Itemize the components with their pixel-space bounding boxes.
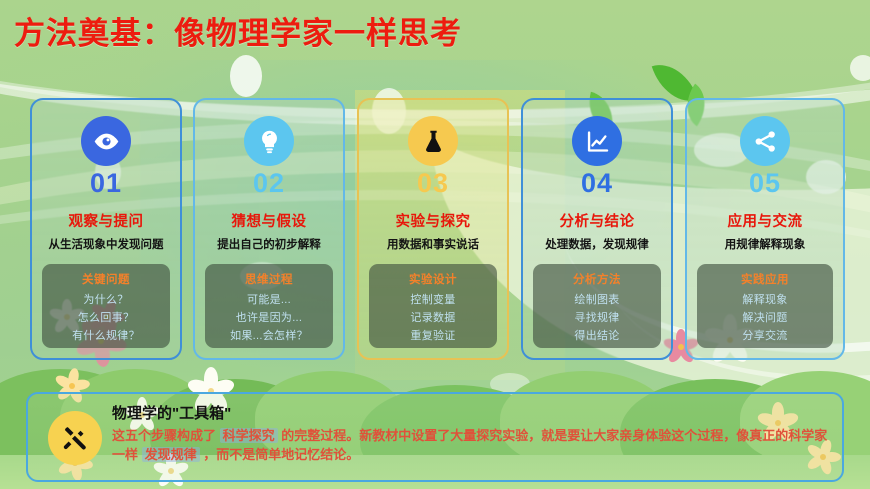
step-detail-item: 分享交流 <box>701 328 829 346</box>
step-detail-heading: 思维过程 <box>209 271 329 287</box>
step-detail-box: 思维过程 可能是... 也许是因为... 如果...会怎样？ <box>205 264 333 348</box>
step-detail-item: 解决问题 <box>701 310 829 328</box>
step-detail-heading: 分析方法 <box>537 271 657 287</box>
step-detail-heading: 实验设计 <box>373 271 493 287</box>
step-detail-item: 寻找规律 <box>537 310 657 328</box>
step-title: 观察与提问 <box>32 210 180 231</box>
lightbulb-icon <box>244 116 294 166</box>
toolbox-panel: 物理学的"工具箱" 这五个步骤构成了 科学探究 的完整过程。新教材中设置了大量探… <box>26 392 844 482</box>
step-card-04[interactable]: 04 分析与结论 处理数据，发现规律 分析方法 绘制图表 寻找规律 得出结论 <box>521 98 673 360</box>
page-title: 方法奠基：像物理学家一样思考 <box>14 8 462 53</box>
toolbox-highlight-2: 发现规律 <box>142 447 200 462</box>
step-detail-item: 也许是因为... <box>209 310 329 328</box>
step-number: 03 <box>359 168 507 199</box>
step-detail-item: 如果...会怎样？ <box>209 328 329 346</box>
step-subtitle: 从生活现象中发现问题 <box>32 236 180 252</box>
step-detail-heading: 实践应用 <box>701 271 829 287</box>
toolbox-body-part-1: 这五个步骤构成了 <box>112 428 216 443</box>
step-card-05[interactable]: 05 应用与交流 用规律解释现象 实践应用 解释现象 解决问题 分享交流 <box>685 98 845 360</box>
step-detail-item: 重复验证 <box>373 328 493 346</box>
step-number: 01 <box>32 168 180 199</box>
step-detail-item: 绘制图表 <box>537 292 657 310</box>
toolbox-body: 这五个步骤构成了 科学探究 的完整过程。新教材中设置了大量探究实验，就是要让大家… <box>112 427 830 465</box>
step-detail-box: 关键问题 为什么？ 怎么回事？ 有什么规律？ <box>42 264 170 348</box>
steps-card-row: 01 观察与提问 从生活现象中发现问题 关键问题 为什么？ 怎么回事？ 有什么规… <box>0 98 870 360</box>
step-detail-box: 实践应用 解释现象 解决问题 分享交流 <box>697 264 833 348</box>
step-detail-item: 记录数据 <box>373 310 493 328</box>
step-title: 分析与结论 <box>523 210 671 231</box>
share-icon <box>740 116 790 166</box>
step-subtitle: 用规律解释现象 <box>687 236 843 252</box>
step-card-02[interactable]: 02 猜想与假设 提出自己的初步解释 思维过程 可能是... 也许是因为... … <box>193 98 345 360</box>
step-detail-item: 怎么回事？ <box>46 310 166 328</box>
decorative-blob <box>230 55 262 97</box>
toolbox-title: 物理学的"工具箱" <box>112 402 231 423</box>
step-detail-box: 实验设计 控制变量 记录数据 重复验证 <box>369 264 497 348</box>
step-detail-heading: 关键问题 <box>46 271 166 287</box>
eye-icon <box>81 116 131 166</box>
step-detail-item: 控制变量 <box>373 292 493 310</box>
chart-line-icon <box>572 116 622 166</box>
step-number: 02 <box>195 168 343 199</box>
step-subtitle: 处理数据，发现规律 <box>523 236 671 252</box>
step-detail-item: 解释现象 <box>701 292 829 310</box>
step-detail-item: 得出结论 <box>537 328 657 346</box>
step-detail-item: 有什么规律？ <box>46 328 166 346</box>
step-card-03[interactable]: 03 实验与探究 用数据和事实说话 实验设计 控制变量 记录数据 重复验证 <box>357 98 509 360</box>
decorative-blob <box>850 55 870 81</box>
step-detail-item: 为什么？ <box>46 292 166 310</box>
flask-icon <box>408 116 458 166</box>
step-subtitle: 提出自己的初步解释 <box>195 236 343 252</box>
step-card-01[interactable]: 01 观察与提问 从生活现象中发现问题 关键问题 为什么？ 怎么回事？ 有什么规… <box>30 98 182 360</box>
step-detail-item: 可能是... <box>209 292 329 310</box>
tools-icon <box>48 411 102 465</box>
toolbox-body-part-3: ，而不是简单地记忆结论。 <box>203 447 359 462</box>
step-title: 猜想与假设 <box>195 210 343 231</box>
slide-canvas: 方法奠基：像物理学家一样思考 01 观察与提问 从生活现象中发现问题 关键问题 … <box>0 0 870 489</box>
step-detail-box: 分析方法 绘制图表 寻找规律 得出结论 <box>533 264 661 348</box>
toolbox-highlight-1: 科学探究 <box>220 428 278 443</box>
step-subtitle: 用数据和事实说话 <box>359 236 507 252</box>
step-number: 04 <box>523 168 671 199</box>
step-title: 实验与探究 <box>359 210 507 231</box>
step-title: 应用与交流 <box>687 210 843 231</box>
step-number: 05 <box>687 168 843 199</box>
